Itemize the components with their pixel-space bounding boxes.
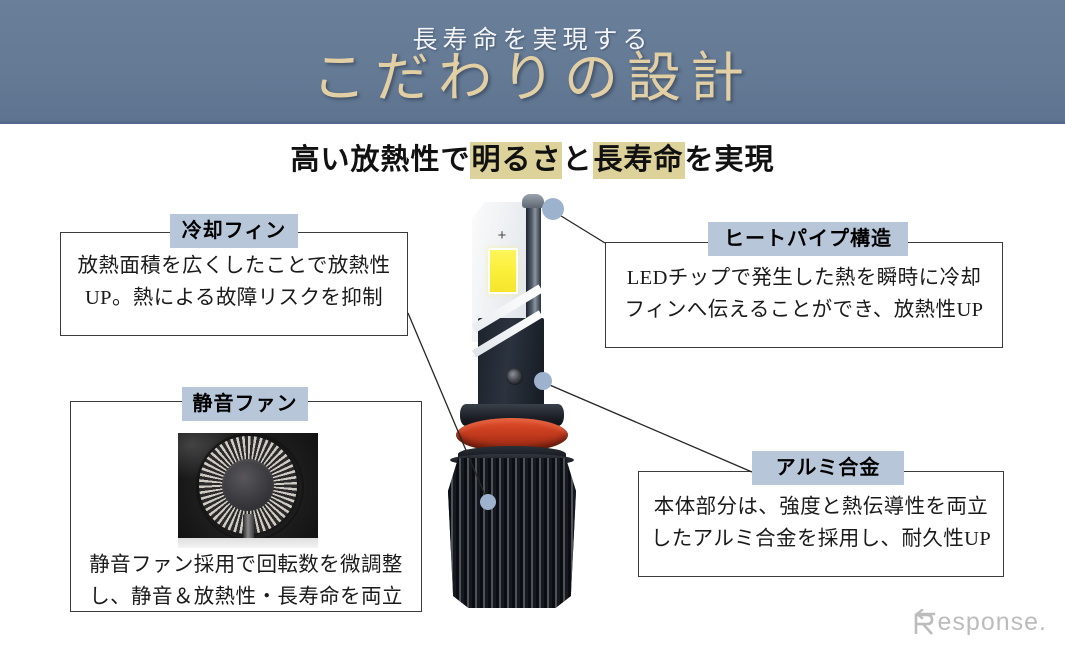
callout-badge-aluminum-alloy: アルミ合金 <box>752 451 904 485</box>
callout-line-1: LEDチップで発生した熱を瞬時に冷却 <box>607 262 1001 294</box>
infographic-page: 長寿命を実現する こだわりの設計 高い放熱性で明るさと長寿命を実現 + 冷却フ <box>0 0 1065 647</box>
led-bulb-product-image: + <box>418 190 608 620</box>
callout-line-2: したアルミ合金を採用し、耐久性UP <box>640 523 1002 555</box>
bulb-cob-chip <box>488 248 518 294</box>
callout-line-1: 本体部分は、強度と熱伝導性を両立 <box>640 491 1002 523</box>
subtitle: 高い放熱性で明るさと長寿命を実現 <box>0 141 1065 179</box>
response-arrow-icon <box>910 609 936 636</box>
watermark-text: esponse. <box>938 608 1047 637</box>
callout-body-cooling-fin: 放熱面積を広くしたことで放熱性 UP。熱による故障リスクを抑制 <box>62 250 406 314</box>
callout-line-2: UP。熱による故障リスクを抑制 <box>62 282 406 314</box>
callout-line-2: フィンへ伝えることができ、放熱性UP <box>607 294 1001 326</box>
callout-body-heat-pipe: LEDチップで発生した熱を瞬時に冷却 フィンへ伝えることができ、放熱性UP <box>607 262 1001 326</box>
callout-line-1: 静音ファン採用で回転数を微調整 <box>72 549 420 581</box>
silent-fan-photo <box>178 433 318 548</box>
fan-hub <box>222 459 274 511</box>
header-band: 長寿命を実現する こだわりの設計 <box>0 0 1065 124</box>
callout-badge-silent-fan: 静音ファン <box>182 387 308 421</box>
subtitle-highlight-longlife: 長寿命 <box>593 142 685 179</box>
subtitle-part-2: と <box>562 144 592 176</box>
callout-body-aluminum-alloy: 本体部分は、強度と熱伝導性を両立 したアルミ合金を採用し、耐久性UP <box>640 491 1002 555</box>
callout-badge-heat-pipe: ヒートパイプ構造 <box>708 222 908 256</box>
bulb-polarity-label: + <box>496 230 508 242</box>
subtitle-part-3: を実現 <box>685 144 775 176</box>
subtitle-highlight-brightness: 明るさ <box>470 142 562 179</box>
callout-body-silent-fan: 静音ファン採用で回転数を微調整 し、静音＆放熱性・長寿命を両立 <box>72 549 420 613</box>
bulb-heat-pipe-cap <box>522 194 544 208</box>
watermark-logo: esponse. <box>910 608 1047 637</box>
callout-line-2: し、静音＆放熱性・長寿命を両立 <box>72 581 420 613</box>
page-title: こだわりの設計 <box>0 48 1065 108</box>
subtitle-part-1: 高い放熱性で <box>290 144 470 176</box>
bulb-screw <box>506 368 523 385</box>
bulb-heatsink-fins <box>448 458 576 608</box>
callout-badge-cooling-fin: 冷却フィン <box>170 214 298 248</box>
callout-line-1: 放熱面積を広くしたことで放熱性 <box>62 250 406 282</box>
fan-base <box>178 538 318 548</box>
